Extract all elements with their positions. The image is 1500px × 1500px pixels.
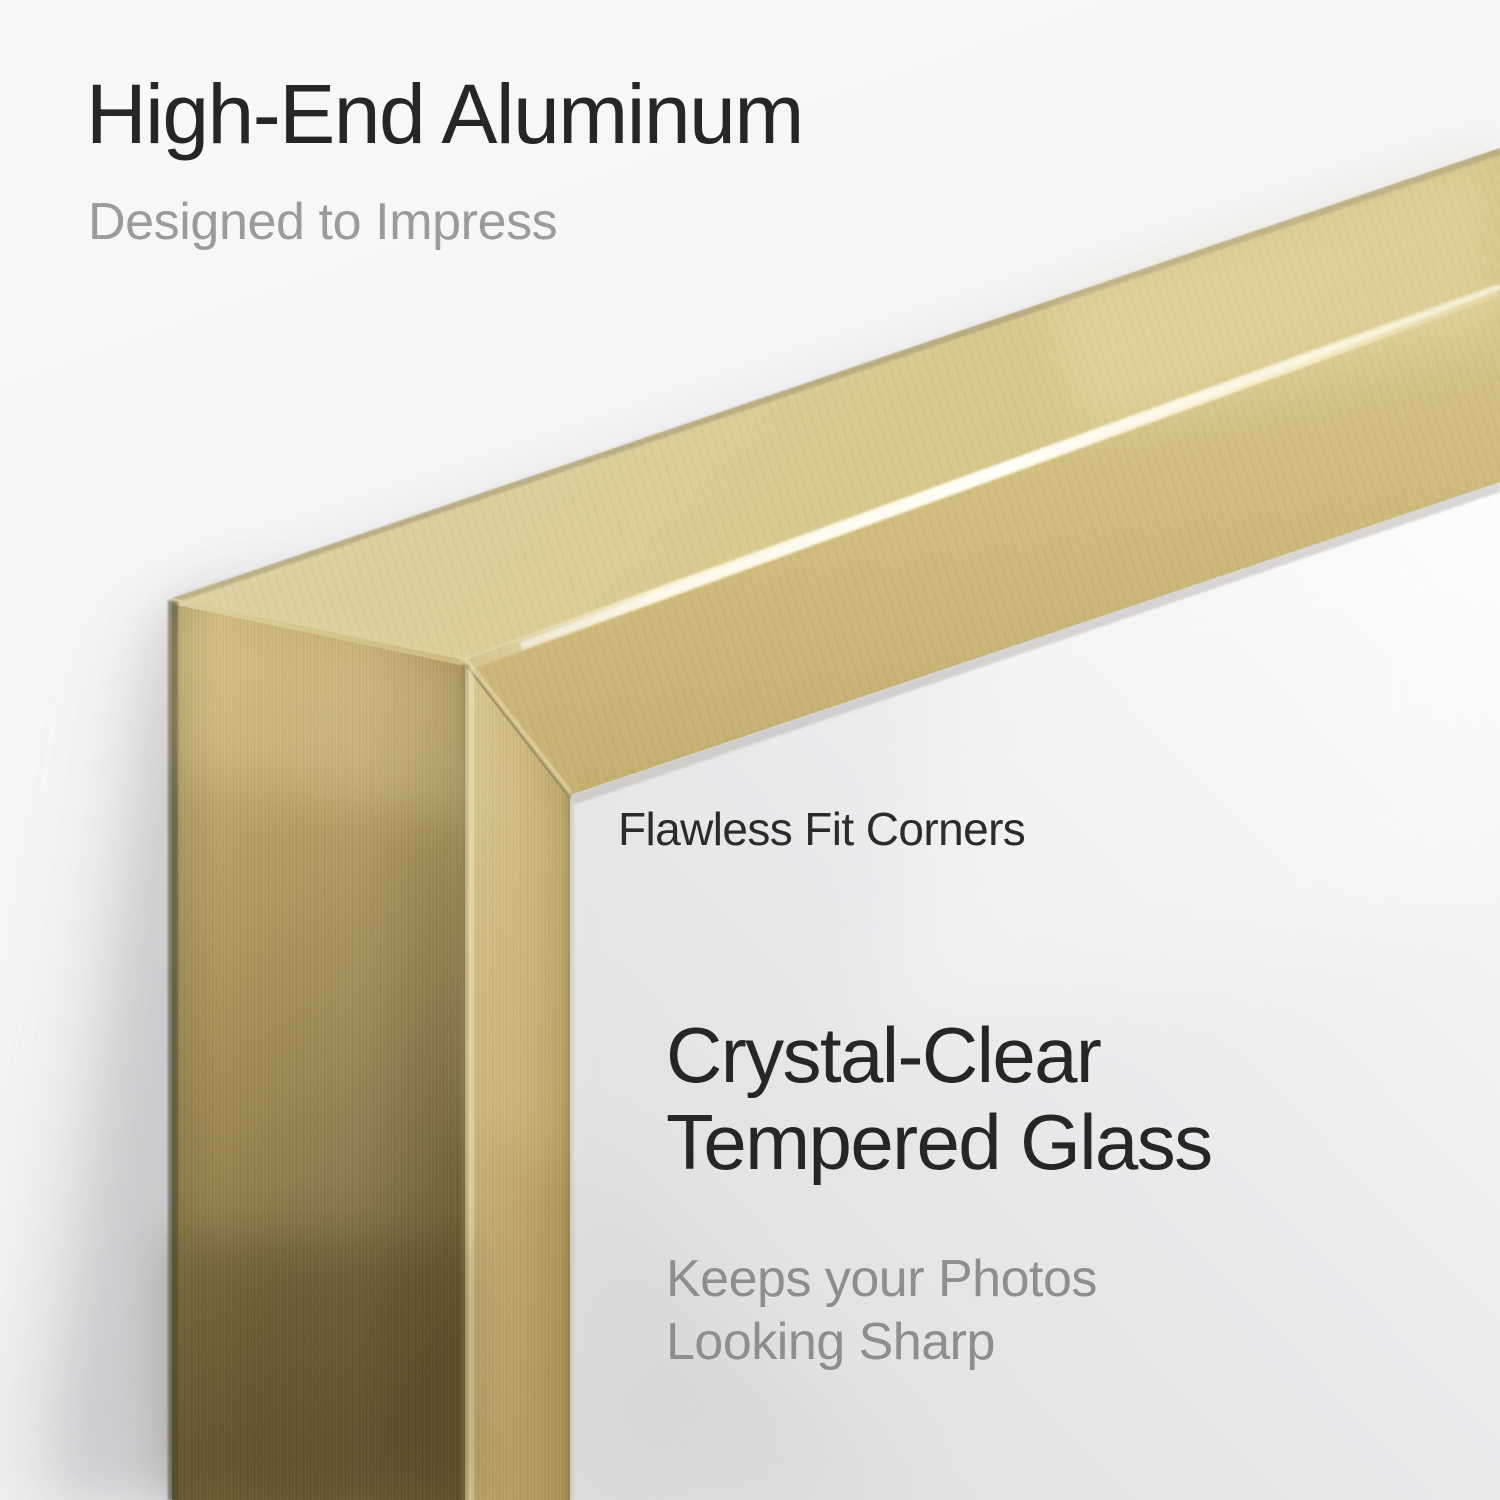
callout-glass-title-line1: Crystal-Clear [666, 1012, 1212, 1099]
page-subtitle: Designed to Impress [88, 196, 557, 248]
callout-glass-title: Crystal-Clear Tempered Glass [666, 1012, 1212, 1187]
page-title: High-End Aluminum [86, 72, 803, 156]
callout-glass-subtitle-line2: Looking Sharp [666, 1311, 1097, 1374]
callout-glass-subtitle-line1: Keeps your Photos [666, 1248, 1097, 1311]
callout-flawless-fit-corners: Flawless Fit Corners [618, 806, 1025, 852]
callout-glass-subtitle: Keeps your Photos Looking Sharp [666, 1248, 1097, 1375]
callout-glass-title-line2: Tempered Glass [666, 1099, 1212, 1186]
product-marketing-image: High-End Aluminum Designed to Impress Fl… [0, 0, 1500, 1500]
